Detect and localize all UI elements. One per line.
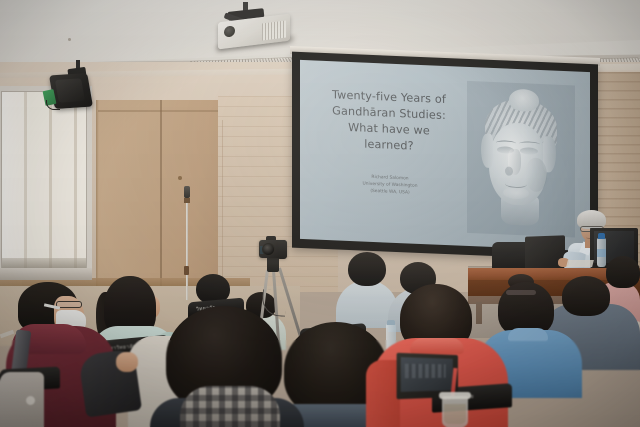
wooden-door[interactable] xyxy=(98,100,218,292)
backpack-logo xyxy=(26,396,35,405)
buddha-cheek-shading xyxy=(525,157,547,192)
drink-cup-lid xyxy=(439,392,471,399)
red-polo-shoulder xyxy=(366,360,400,427)
gray-blue-attendee-head xyxy=(562,276,610,316)
backpack-icon[interactable] xyxy=(0,372,44,427)
blue-attendee-collar xyxy=(508,328,548,341)
plaid-shirt-attendee-body xyxy=(180,386,280,427)
microphone-clip xyxy=(184,198,190,203)
red-polo-collar xyxy=(410,338,464,354)
slide-credit: Richard Salomon University of Washington… xyxy=(340,174,440,199)
buddha-ear-left xyxy=(481,134,493,169)
salmon-shirt-attendee-head xyxy=(606,256,640,288)
door-seam xyxy=(160,100,162,292)
buddha-head-image xyxy=(467,81,575,238)
water-bottle-label xyxy=(597,249,606,257)
drink-contents xyxy=(444,404,466,424)
hair-tie xyxy=(506,290,536,295)
presentation-slide: Twenty-five Years of Gandhāran Studies: … xyxy=(300,60,590,251)
ceiling-fixture-dot xyxy=(68,38,71,41)
water-bottle-cap xyxy=(598,233,605,239)
buddha-ushnisha xyxy=(509,89,539,112)
door-frame-edge xyxy=(96,100,99,292)
door-knob[interactable] xyxy=(178,176,182,180)
back-row-attendee-2-head xyxy=(348,252,386,286)
window-glare xyxy=(2,92,32,270)
projection-screen: Twenty-five Years of Gandhāran Studies: … xyxy=(300,60,590,251)
water-bottle-cap xyxy=(387,320,395,325)
wall-panel-seam xyxy=(222,120,223,292)
door-top-trim xyxy=(98,110,218,112)
microphone-icon[interactable] xyxy=(184,186,190,198)
window-sill xyxy=(0,268,92,280)
maroon-attendee-hand xyxy=(116,352,138,372)
laptop-keyboard[interactable] xyxy=(405,364,446,379)
microphone-stand-pole xyxy=(186,196,188,300)
camera-grip xyxy=(278,240,287,259)
camera-lens-icon xyxy=(262,243,275,256)
lecture-hall-photo: Twenty-five Years of Gandhāran Studies: … xyxy=(0,0,640,427)
papers-on-table[interactable] xyxy=(566,260,594,267)
slide-title: Twenty-five Years of Gandhāran Studies: … xyxy=(314,87,464,157)
projector-vent-grille xyxy=(262,21,286,41)
blind-bottom-edge xyxy=(2,258,86,268)
buddha-nose-shadow xyxy=(505,167,513,176)
tripod-head[interactable] xyxy=(267,256,279,272)
microphone-stand-joint xyxy=(184,266,189,275)
